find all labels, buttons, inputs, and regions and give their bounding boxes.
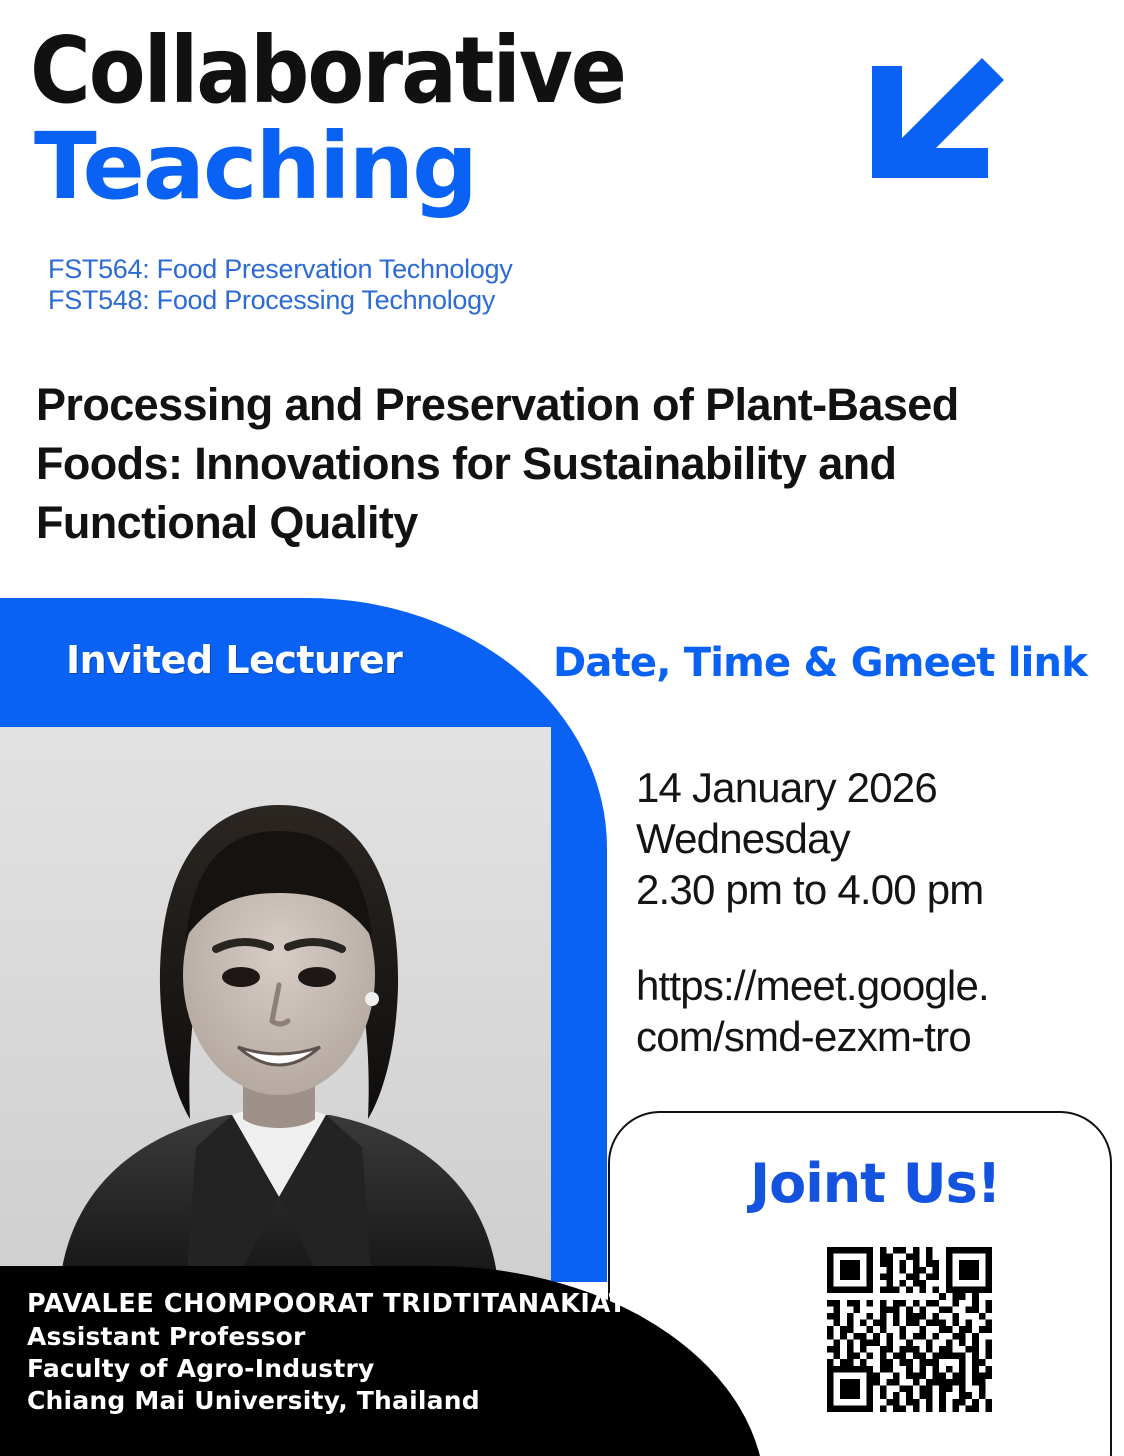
schedule-day: Wednesday <box>636 813 983 864</box>
lecturer-name: PAVALEE CHOMPOORAT TRIDTITANAKIAT <box>27 1288 627 1321</box>
course-item-1: FST548: Food Processing Technology <box>48 285 512 316</box>
arrow-down-left-icon <box>872 58 1004 190</box>
lecturer-photo <box>0 727 551 1282</box>
qr-code[interactable] <box>827 1247 992 1412</box>
course-item-0: FST564: Food Preservation Technology <box>48 254 512 285</box>
gmeet-link-line1: https://meet.google. <box>636 960 989 1011</box>
session-title: Processing and Preservation of Plant-Bas… <box>36 376 1036 553</box>
page-title-line2: Teaching <box>34 122 476 212</box>
lecturer-position: Assistant Professor <box>27 1321 627 1353</box>
schedule-time: 2.30 pm to 4.00 pm <box>636 864 983 915</box>
lecturer-info: PAVALEE CHOMPOORAT TRIDTITANAKIAT Assist… <box>27 1288 627 1417</box>
lecturer-faculty: Faculty of Agro-Industry <box>27 1353 627 1385</box>
schedule-date: 14 January 2026 <box>636 762 983 813</box>
schedule-heading: Date, Time & Gmeet link <box>553 640 1087 686</box>
poster-canvas: Collaborative Teaching FST564: Food Pres… <box>0 0 1124 1456</box>
join-title: Joint Us! <box>750 1152 1000 1215</box>
invited-lecturer-badge: Invited Lecturer <box>66 638 402 682</box>
schedule-details: 14 January 2026 Wednesday 2.30 pm to 4.0… <box>636 762 983 916</box>
gmeet-link-line2: com/smd-ezxm-tro <box>636 1011 989 1062</box>
page-title-line1: Collaborative <box>30 26 625 116</box>
lecturer-university: Chiang Mai University, Thailand <box>27 1385 627 1417</box>
course-list: FST564: Food Preservation Technology FST… <box>48 254 512 316</box>
gmeet-link[interactable]: https://meet.google. com/smd-ezxm-tro <box>636 960 989 1062</box>
